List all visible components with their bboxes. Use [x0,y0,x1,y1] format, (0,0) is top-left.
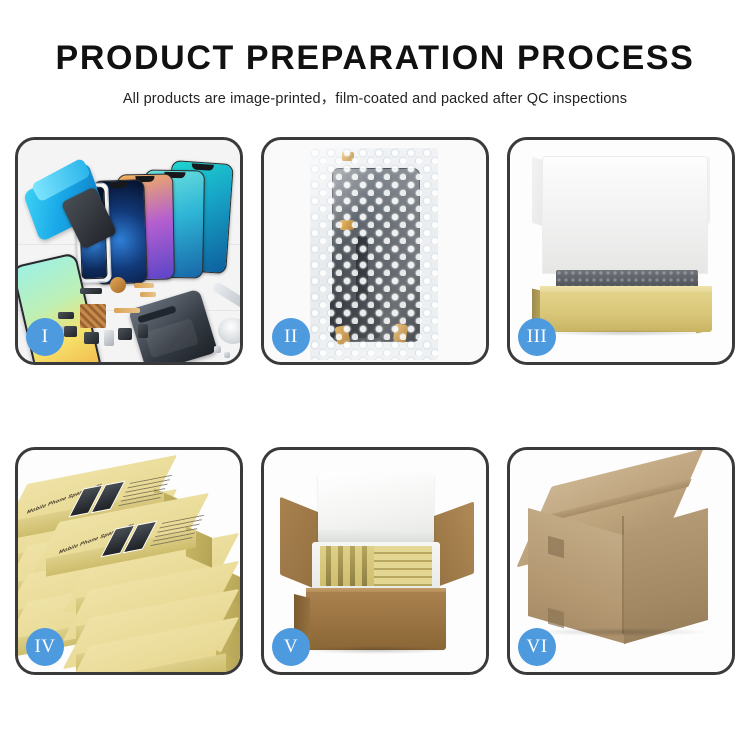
process-step-panel-2: II [261,137,489,365]
page-title: PRODUCT PREPARATION PROCESS [0,40,750,77]
part-logic-board [80,304,106,328]
part-flex-cable [114,308,140,313]
carton-front-face [306,592,446,650]
step-badge-2: II [272,318,310,356]
carton-vertical-edge [622,516,624,634]
part-screw [214,346,221,353]
box-divider [338,546,343,586]
part-camera-module [84,332,99,344]
plastic-sheen [310,148,438,360]
housing-battery-area [144,319,198,359]
page-header: PRODUCT PREPARATION PROCESS All products… [0,0,750,108]
part-screw [224,352,230,358]
box-divider [326,546,331,586]
part-vibration-motor [110,277,126,293]
yellow-tray-front [540,292,712,332]
process-step-grid: I II [15,137,735,675]
process-step-panel-3: III [507,137,735,365]
step-badge-1: I [26,318,64,356]
part-button-set [118,328,132,340]
drop-shadow [304,646,450,654]
box-divider [362,546,367,586]
notch [109,182,127,189]
packed-yellow-boxes [320,546,432,586]
process-step-panel-1: I [15,137,243,365]
box-divider [350,546,355,586]
white-box-lid [542,156,708,274]
drop-shadow [544,330,708,336]
step-badge-4: IV [26,628,64,666]
process-step-panel-4: Mobile Phone Spare Parts Mobile Phone Sp… [15,447,243,675]
step-badge-6: VI [518,628,556,666]
bubble-wrap-bag [310,148,438,360]
stacked-boxes-flat [374,546,432,586]
drop-shadow [536,628,706,636]
step-badge-3: III [518,318,556,356]
housing-camera-module [138,306,177,324]
part-flex-cable [134,283,154,288]
part-sim-tray [104,330,114,346]
part-connector [64,326,77,337]
part-connector [58,312,74,319]
process-step-panel-5: V [261,447,489,675]
page-subtitle: All products are image-printed，film-coat… [0,87,750,108]
part-flex-cable [140,292,156,297]
step-badge-5: V [272,628,310,666]
process-step-panel-6: VI [507,447,735,675]
part-sensor [138,324,148,338]
part-speaker-bar [80,288,102,294]
